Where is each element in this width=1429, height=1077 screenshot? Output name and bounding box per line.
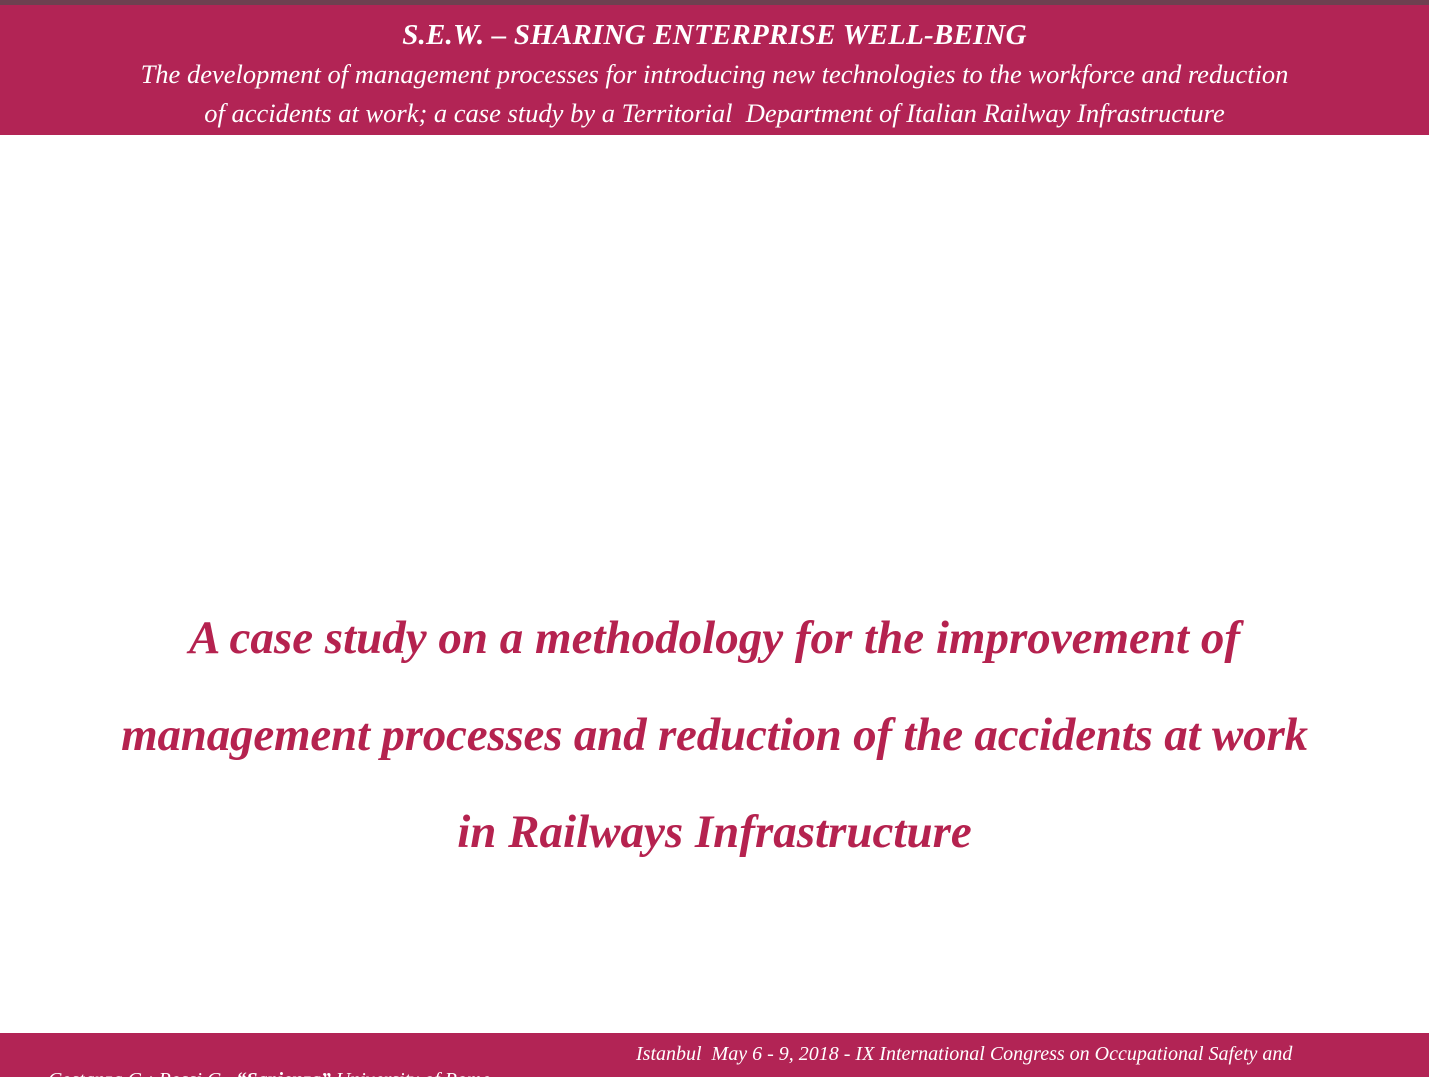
footer-university-rest: University of Rome: [331, 1069, 490, 1077]
page-title-line-2: management processes and reduction of th…: [0, 687, 1429, 784]
page-title: A case study on a methodology for the im…: [0, 590, 1429, 881]
header-subtitle-line-2: of accidents at work; a case study by a …: [0, 94, 1429, 133]
header-subtitle-line-1: The development of management processes …: [0, 55, 1429, 94]
slide-footer-band: Costanza G.; Rossi G. “Sapienza” Univers…: [0, 1033, 1429, 1077]
page-title-line-3: in Railways Infrastructure: [0, 784, 1429, 881]
slide-body-area: A case study on a methodology for the im…: [0, 135, 1429, 1033]
slide-header-band: S.E.W. – SHARING ENTERPRISE WELL-BEING T…: [0, 5, 1429, 135]
footer-event-info: Istanbul May 6 - 9, 2018 - IX Internatio…: [636, 1041, 1292, 1067]
header-title: S.E.W. – SHARING ENTERPRISE WELL-BEING: [0, 15, 1429, 55]
footer-authors: Costanza G.; Rossi G. “Sapienza” Univers…: [8, 1041, 490, 1077]
footer-authors-names: Costanza G.; Rossi G.: [48, 1069, 236, 1077]
page-title-line-1: A case study on a methodology for the im…: [0, 590, 1429, 687]
footer-university-emphasis: “Sapienza”: [236, 1069, 330, 1077]
presentation-slide: S.E.W. – SHARING ENTERPRISE WELL-BEING T…: [0, 0, 1429, 1077]
